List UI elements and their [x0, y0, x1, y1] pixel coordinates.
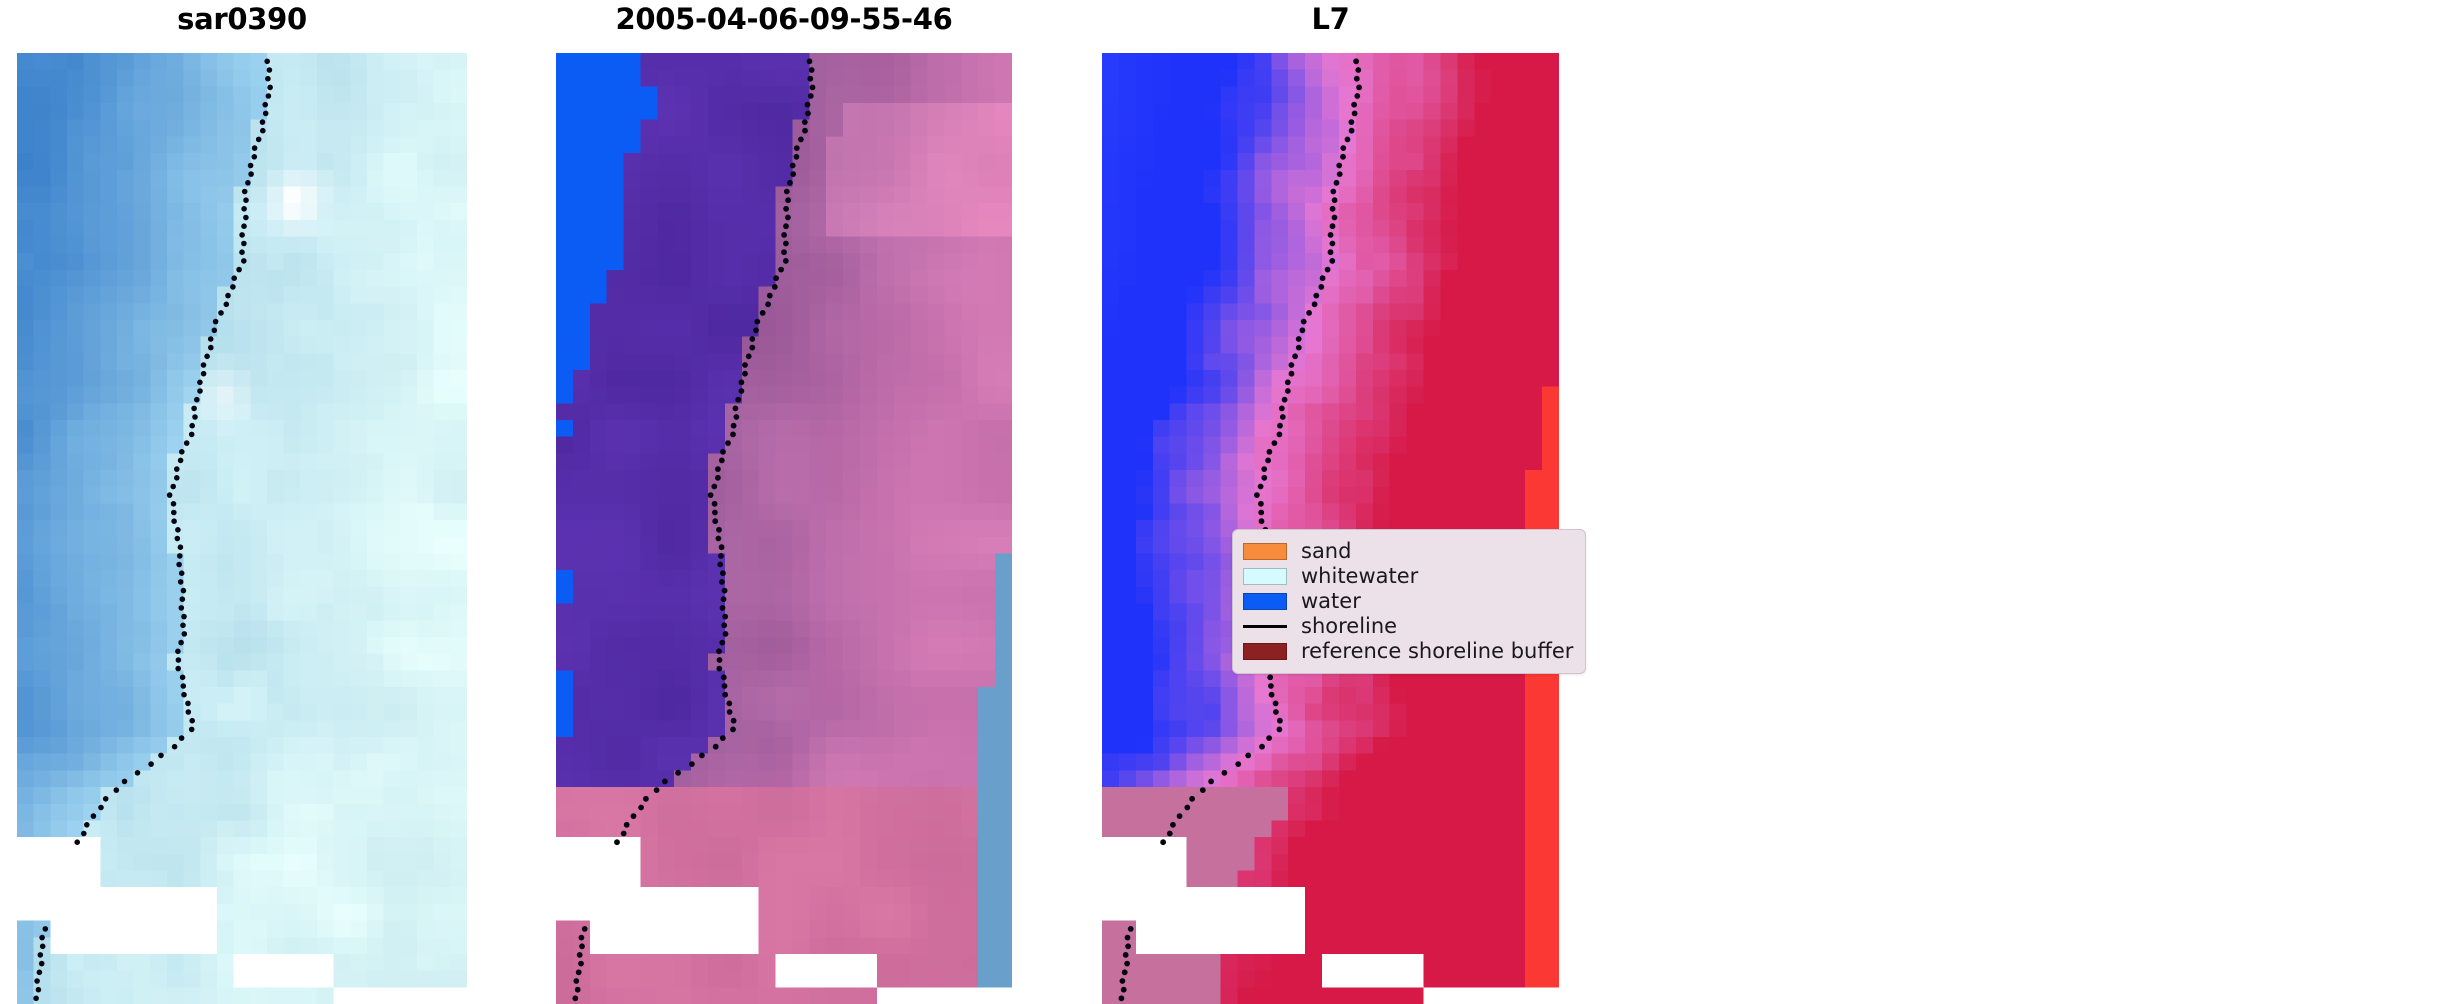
legend-box[interactable]: sand whitewater water shoreline referenc…	[1232, 529, 1586, 674]
panel-title-0: sar0390	[17, 5, 467, 34]
legend-label-shoreline: shoreline	[1301, 616, 1397, 637]
reference-shoreline-buffer-swatch-icon	[1243, 643, 1287, 660]
panel-title-2: L7	[1102, 5, 1559, 34]
water-swatch-icon	[1243, 593, 1287, 610]
shoreline-overlay-classification	[556, 53, 1012, 1004]
legend-label-whitewater: whitewater	[1301, 566, 1418, 587]
legend-item-shoreline[interactable]: shoreline	[1243, 614, 1573, 639]
panel-l7: L7	[1102, 0, 1559, 1004]
axes-sar0390[interactable]	[17, 53, 467, 1004]
axes-classification[interactable]	[556, 53, 1012, 1004]
panel-sar0390: sar0390	[17, 0, 467, 1004]
legend-label-reference-shoreline-buffer: reference shoreline buffer	[1301, 641, 1573, 662]
whitewater-swatch-icon	[1243, 568, 1287, 585]
legend-label-water: water	[1301, 591, 1361, 612]
shoreline-line-icon	[1243, 618, 1287, 635]
sand-swatch-icon	[1243, 543, 1287, 560]
legend-item-whitewater[interactable]: whitewater	[1243, 564, 1573, 589]
legend-item-sand[interactable]: sand	[1243, 539, 1573, 564]
legend-item-water[interactable]: water	[1243, 589, 1573, 614]
shoreline-overlay-sar0390	[17, 53, 467, 1004]
panel-classification: 2005-04-06-09-55-46	[556, 0, 1012, 1004]
panel-title-1: 2005-04-06-09-55-46	[556, 5, 1012, 34]
legend-label-sand: sand	[1301, 541, 1351, 562]
figure-canvas: sar0390 2005-04-06-09-55-46 L7	[0, 0, 2460, 1004]
legend-item-reference-shoreline-buffer[interactable]: reference shoreline buffer	[1243, 639, 1573, 664]
